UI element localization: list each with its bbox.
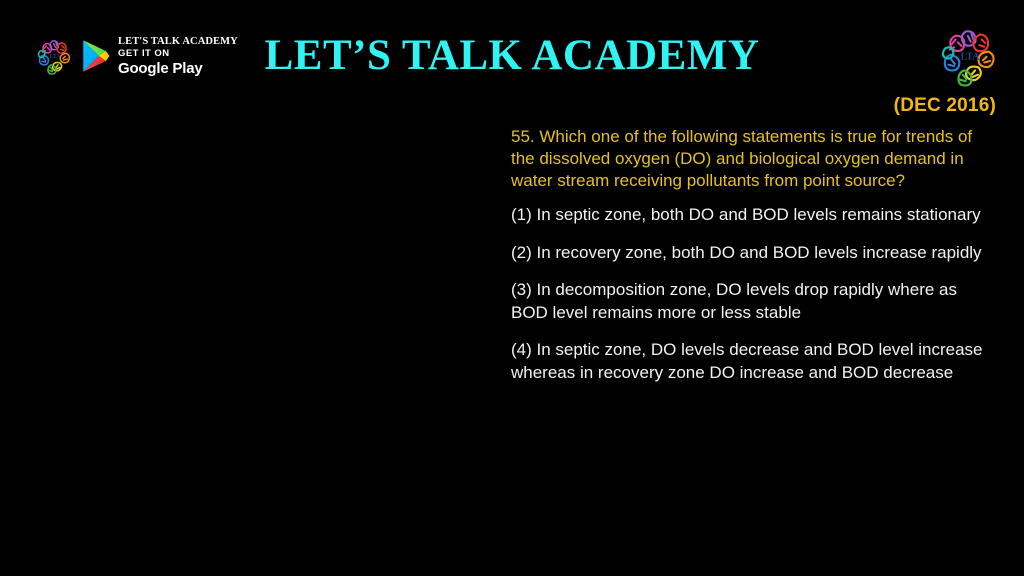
- option-3[interactable]: (3) In decomposition zone, DO levels dro…: [511, 279, 998, 324]
- date-badge: (DEC 2016): [511, 96, 996, 115]
- option-4[interactable]: (4) In septic zone, DO levels decrease a…: [511, 339, 998, 384]
- slide-canvas: LTA: [0, 0, 1024, 576]
- lta-monogram: LTA: [960, 52, 980, 63]
- option-2[interactable]: (2) In recovery zone, both DO and BOD le…: [511, 242, 998, 265]
- page-title: LET’S TALK ACADEMY: [0, 34, 1024, 77]
- lta-brain-icon: LTA: [934, 20, 1006, 92]
- option-1[interactable]: (1) In septic zone, both DO and BOD leve…: [511, 204, 998, 227]
- question-text: 55. Which one of the following statement…: [511, 126, 998, 192]
- question-content: 55. Which one of the following statement…: [511, 126, 998, 384]
